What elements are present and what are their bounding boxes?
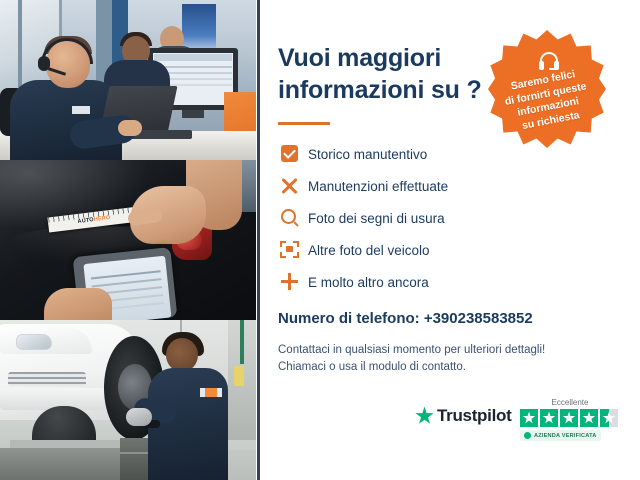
magnifier-icon <box>278 206 308 230</box>
feature-label: Foto dei segni di usura <box>308 211 445 226</box>
rating-star-half <box>600 409 618 427</box>
contact-subtext-line-2: Chiamaci o usa il modulo di contatto. <box>278 359 545 376</box>
content-panel: Vuoi maggiori informazioni su ? Saremo f… <box>260 0 640 480</box>
checkbox-checked-icon <box>278 142 308 166</box>
contact-subtext: Contattaci in qualsiasi momento per ulte… <box>278 342 545 376</box>
trustpilot-star-rating <box>520 409 620 427</box>
trustpilot-rating-label: Eccellente <box>520 398 620 407</box>
page-title: Vuoi maggiori informazioni su ? <box>278 42 518 106</box>
verified-company-badge: AZIENDA VERIFICATA <box>520 430 601 441</box>
car-grille <box>8 372 86 386</box>
contact-subtext-line-1: Contattaci in qualsiasi momento per ulte… <box>278 342 545 359</box>
plus-icon <box>278 270 308 294</box>
page-title-line-1: Vuoi maggiori <box>278 42 518 74</box>
phone-number-line[interactable]: Numero di telefono: +390238583852 <box>278 310 533 327</box>
title-underline-rule <box>278 122 330 125</box>
mechanic-head <box>166 338 198 372</box>
photo-frame-icon <box>278 238 308 262</box>
operator-name-badge <box>72 106 90 114</box>
monitor-toolbar <box>154 54 232 61</box>
mechanic-glove <box>126 408 152 426</box>
feature-label: Storico manutentivo <box>308 147 427 162</box>
feature-item-much-more: E molto altro ancora <box>278 268 618 296</box>
monitor-stand <box>182 110 204 118</box>
mechanic-torso <box>148 368 228 480</box>
request-info-badge: Saremo felici di fornirti queste informa… <box>488 30 606 148</box>
inspector-second-hand <box>44 288 112 320</box>
trustpilot-widget[interactable]: Trustpilot Eccellente AZIENDA VERIFICATA <box>415 398 620 444</box>
call-center-photo: Operatori del servizio clienti con cuffi… <box>0 0 256 160</box>
verified-company-label: AZIENDA VERIFICATA <box>534 433 597 439</box>
feature-list: Storico manutentivo Manutenzioni effettu… <box>278 140 618 300</box>
trustpilot-star-icon <box>415 407 434 426</box>
feature-item-maintenance-done: Manutenzioni effettuate <box>278 172 618 200</box>
verified-check-icon <box>524 432 531 439</box>
trustpilot-wordmark: Trustpilot <box>437 406 511 426</box>
page-title-line-2: informazioni su ? <box>278 74 518 106</box>
vehicle-inspection-photo: AUTOHERO Tecnico misura un graffio su au… <box>0 160 256 320</box>
crossed-tools-icon <box>278 174 308 198</box>
feature-label: E molto altro ancora <box>308 275 429 290</box>
rating-star-filled <box>580 409 598 427</box>
trustpilot-logo: Trustpilot <box>415 406 511 426</box>
feature-item-service-history: Storico manutentivo <box>278 140 618 168</box>
rating-star-filled <box>520 409 538 427</box>
car-headlight <box>16 334 52 350</box>
fluid-bottle <box>234 366 244 386</box>
workshop-lift-photo: Meccanico controlla la ruota di un'auto … <box>0 320 256 480</box>
green-hose <box>240 320 244 364</box>
feature-label: Manutenzioni effettuate <box>308 179 448 194</box>
rating-star-filled <box>540 409 558 427</box>
promo-banner: Operatori del servizio clienti con cuffi… <box>0 0 640 480</box>
headset-earcup-left <box>539 61 544 70</box>
mechanic-uniform-logo <box>200 388 222 397</box>
feature-item-more-photos: Altre foto del veicolo <box>278 236 618 264</box>
rating-star-filled <box>560 409 578 427</box>
feature-item-wear-photos: Foto dei segni di usura <box>278 204 618 232</box>
feature-label: Altre foto del veicolo <box>308 243 430 258</box>
operator-hand <box>118 120 142 136</box>
photo-column: Operatori del servizio clienti con cuffi… <box>0 0 256 480</box>
headset-mic-boom <box>549 68 557 70</box>
trustpilot-rating: Eccellente AZIENDA VERIFICATA <box>520 398 620 441</box>
